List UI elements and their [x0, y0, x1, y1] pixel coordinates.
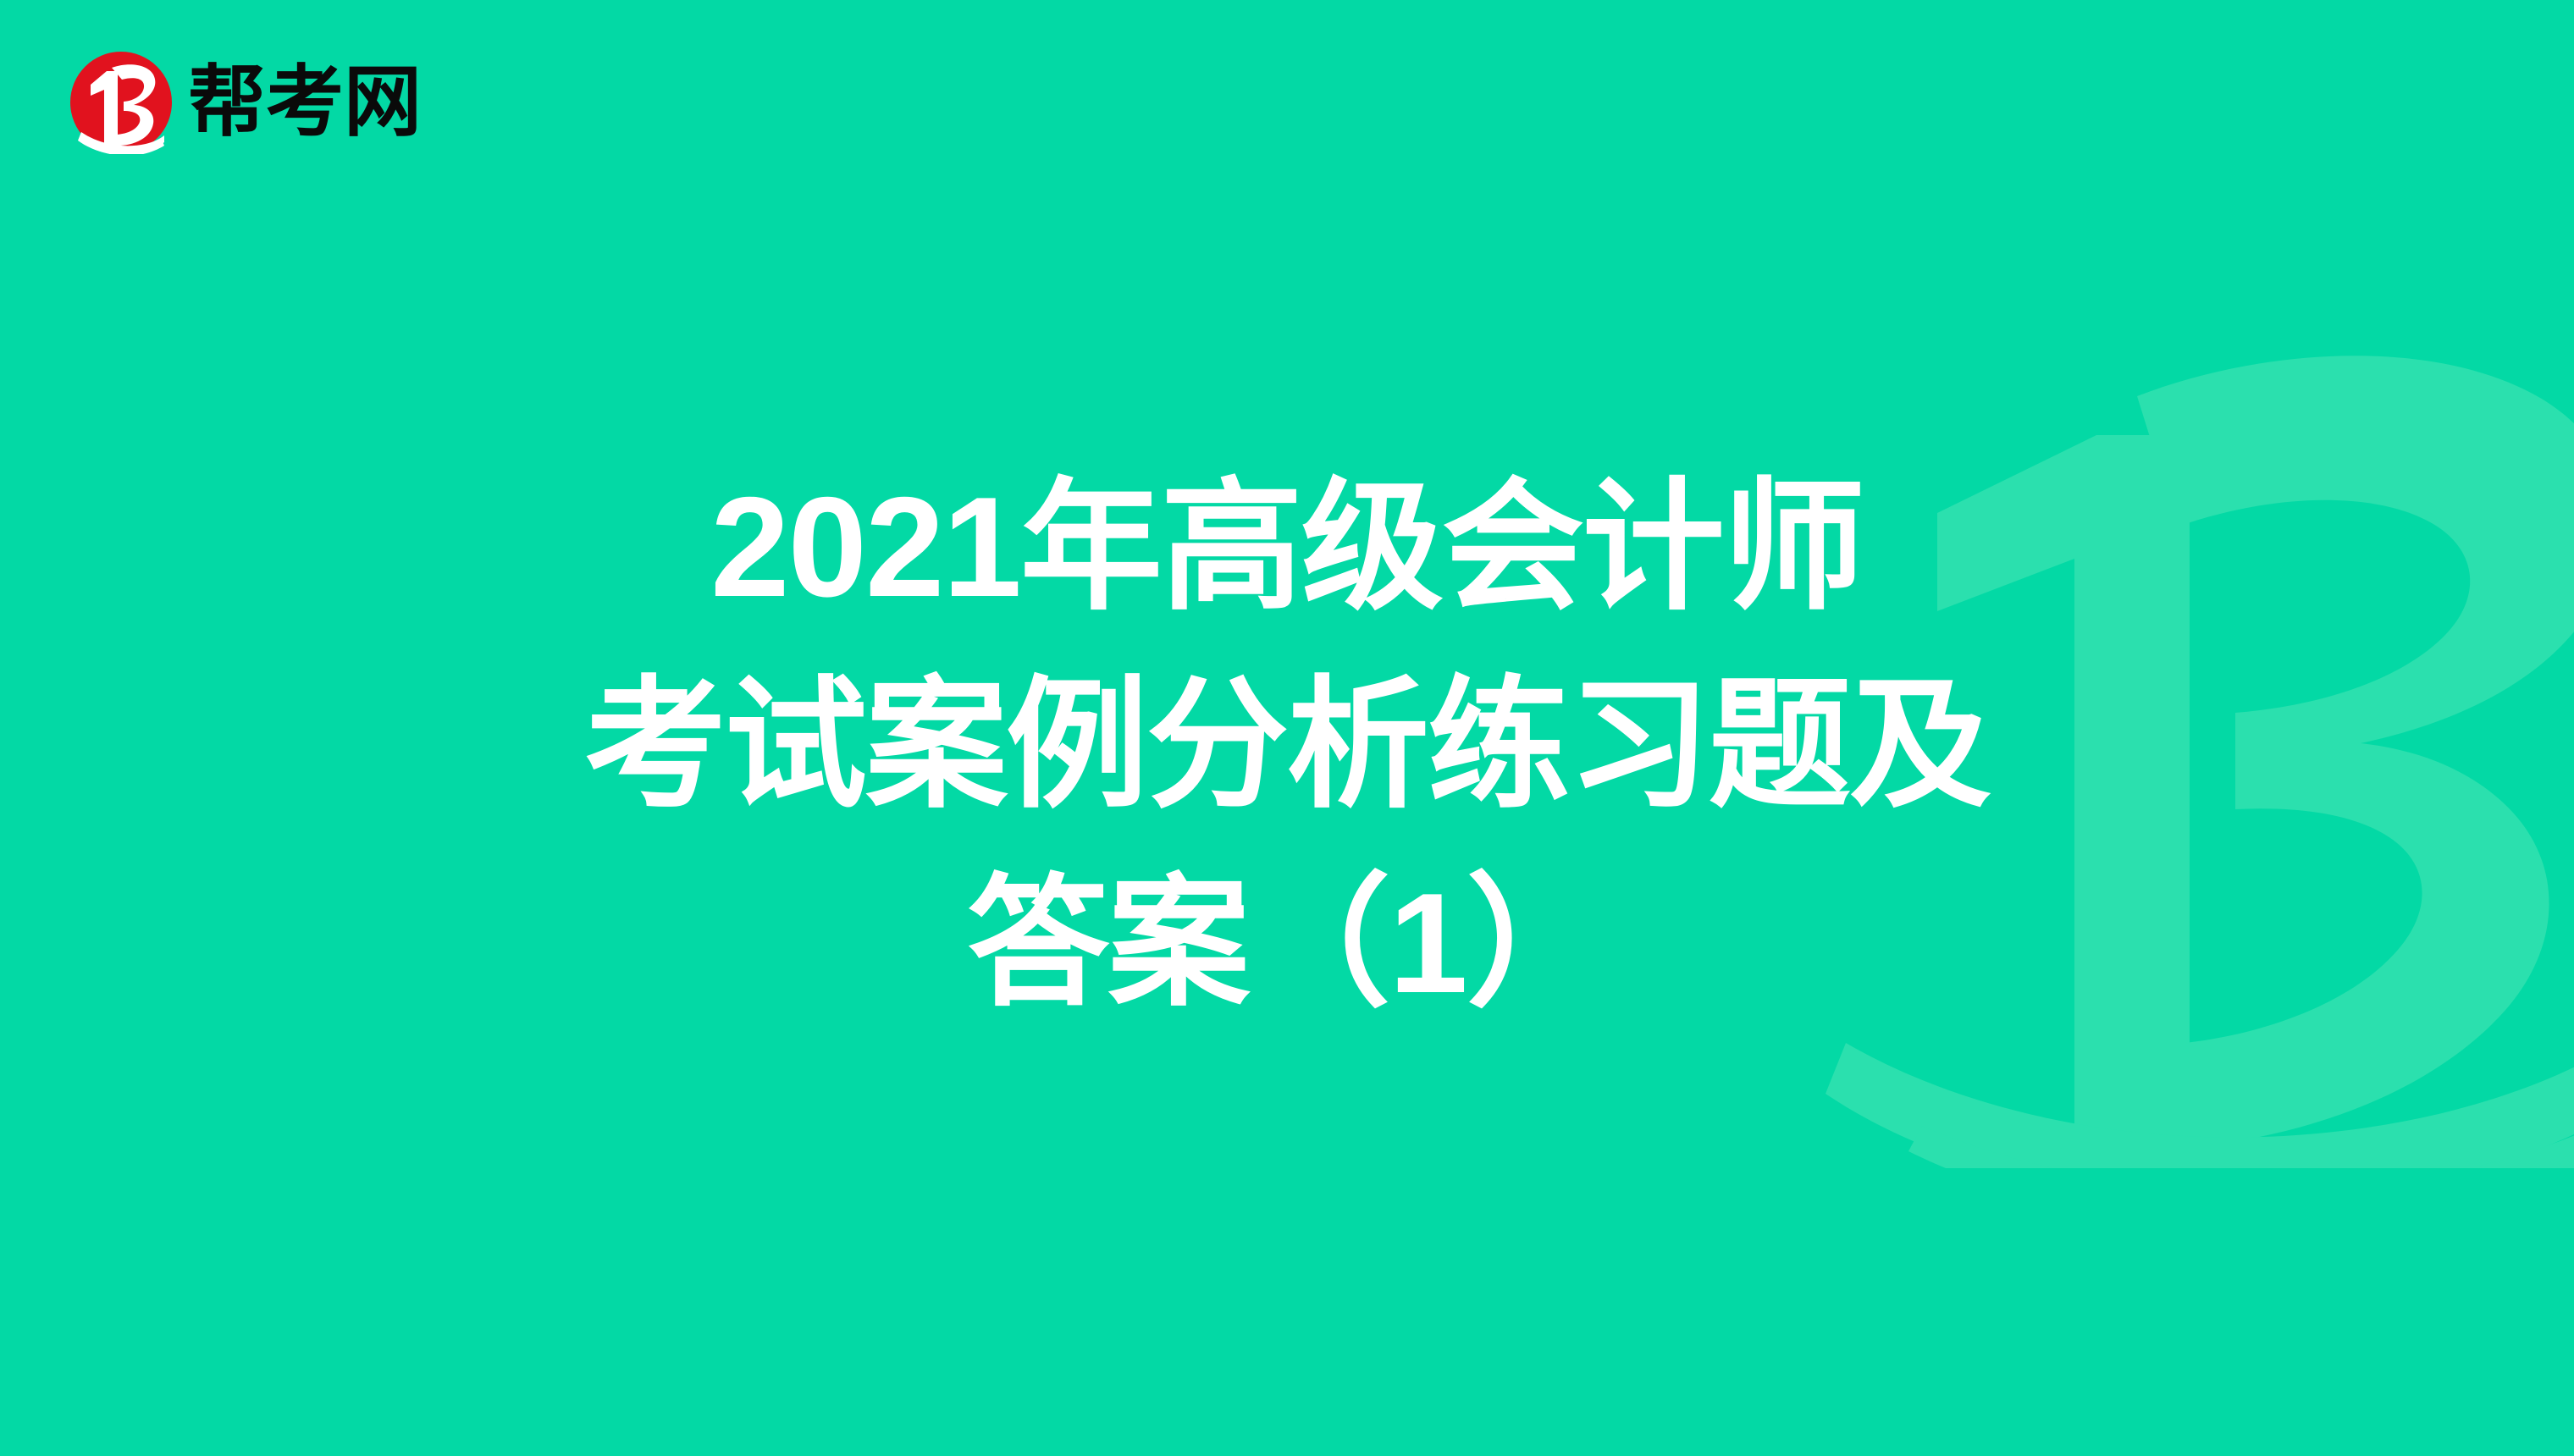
page-title-line-3: 答案（1） — [483, 844, 2091, 1042]
bangkao-b-watermark-icon — [1795, 279, 2574, 1168]
bangkao-b-mark-icon — [69, 51, 173, 154]
logo-wordmark: 帮考网 — [188, 62, 422, 143]
page-title-lines: 2021年高级会计师 考试案例分析练习题及 答案（1） — [483, 448, 2091, 1042]
site-logo[interactable]: 帮考网 — [69, 49, 422, 156]
poster-canvas: 帮考网 2021年高级会计师 考试案例分析练习题及 答案（1） — [0, 0, 2574, 1456]
page-title: 2021年高级会计师 考试案例分析练习题及 答案（1） — [0, 0, 2574, 1456]
page-title-line-2: 考试案例分析练习题及 — [483, 646, 2091, 844]
page-title-line-1: 2021年高级会计师 — [483, 448, 2091, 646]
